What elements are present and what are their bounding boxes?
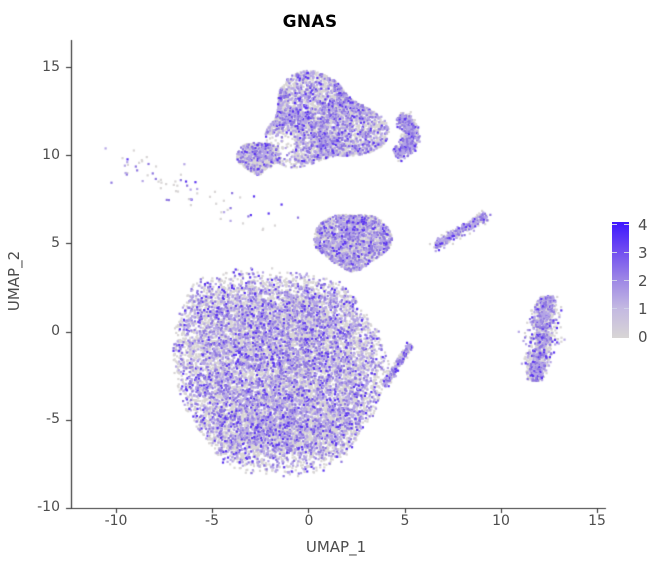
colorbar-tick <box>624 252 629 253</box>
x-tick-label: 0 <box>289 514 329 528</box>
colorbar-label: 3 <box>638 246 648 261</box>
umap-feature-plot: GNAS UMAP_1 UMAP_2 -10 -5 0 5 10 15 15 1… <box>0 0 672 576</box>
colorbar-tick <box>612 224 617 225</box>
y-tick-label: 10 <box>20 148 60 162</box>
x-axis-title: UMAP_1 <box>0 538 672 556</box>
y-tick-label: -5 <box>20 412 60 426</box>
colorbar-tick <box>624 308 629 309</box>
x-tick-label: 5 <box>385 514 425 528</box>
colorbar-label: 1 <box>638 302 648 317</box>
x-tick-label: 10 <box>481 514 521 528</box>
y-tick-label: 5 <box>20 236 60 250</box>
y-tick-label: 0 <box>20 324 60 338</box>
colorbar-label: 4 <box>638 218 648 233</box>
colorbar-tick <box>612 252 617 253</box>
colorbar-tick <box>624 224 629 225</box>
colorbar-tick <box>612 280 617 281</box>
colorbar-label: 0 <box>638 330 648 345</box>
y-tick-label: 15 <box>20 60 60 74</box>
y-tick-label: -10 <box>20 500 60 514</box>
color-legend: 4 3 2 1 0 <box>612 216 668 346</box>
scatter-plot-canvas <box>0 0 672 576</box>
colorbar-tick <box>624 280 629 281</box>
colorbar-tick <box>612 308 617 309</box>
x-tick-label: -10 <box>96 514 136 528</box>
x-tick-label: 15 <box>577 514 617 528</box>
x-tick-label: -5 <box>192 514 232 528</box>
colorbar-label: 2 <box>638 274 648 289</box>
